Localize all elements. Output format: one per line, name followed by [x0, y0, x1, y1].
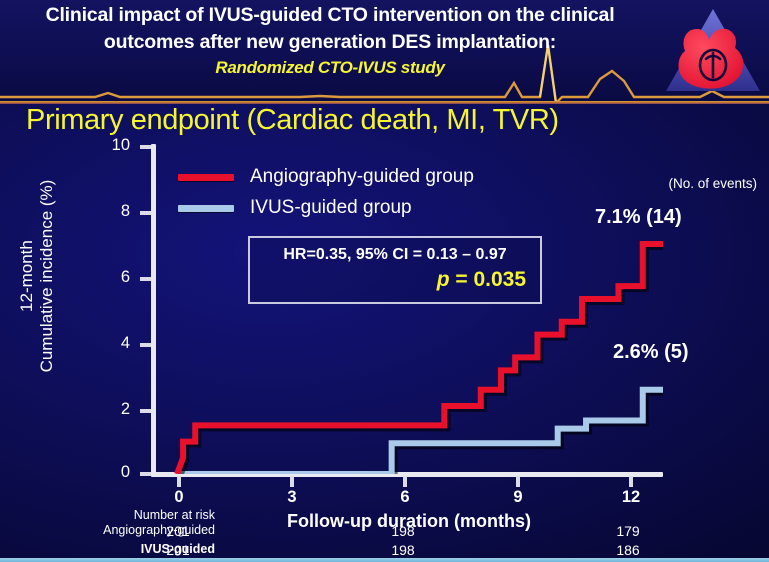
x-label-6: 6: [385, 488, 425, 507]
title-line-3-study: Randomized CTO-IVUS study: [0, 58, 660, 78]
legend-label-angio: Angiography-guided group: [250, 166, 474, 188]
p-value-number: = 0.035: [450, 268, 526, 291]
legend-item-angio: Angiography-guided group: [178, 166, 474, 188]
legend-swatch-ivus: [178, 205, 234, 212]
x-tick-12: [629, 476, 633, 487]
chart-legend: Angiography-guided group IVUS-guided gro…: [178, 166, 474, 228]
risk-angio-m6: 198: [380, 523, 426, 539]
slide-root: Clinical impact of IVUS-guided CTO inter…: [0, 0, 769, 562]
y-tick-10: [140, 145, 151, 149]
section-heading: Primary endpoint (Cardiac death, MI, TVR…: [26, 104, 559, 137]
y-label-2: 2: [96, 400, 130, 419]
y-tick-0: [140, 472, 151, 476]
risk-angio-m12: 179: [605, 523, 651, 539]
risk-table-title: Number at risk: [65, 508, 215, 522]
risk-row-values-angio: 201 198 179: [155, 523, 665, 538]
events-caption: (No. of events): [668, 176, 757, 191]
p-symbol: p: [437, 268, 450, 291]
series-ivus-guided: [177, 390, 663, 474]
y-tick-4: [140, 343, 151, 347]
statistics-box: HR=0.35, 95% CI = 0.13 – 0.97 p = 0.035: [248, 236, 542, 304]
y-label-8: 8: [96, 202, 130, 221]
x-tick-3: [290, 476, 294, 487]
y-axis-title: 12-monthCumulative incidence (%): [17, 151, 57, 401]
x-label-0: 0: [159, 488, 199, 507]
x-tick-9: [516, 476, 520, 487]
risk-angio-m0: 201: [155, 523, 201, 539]
risk-ivus-m0: 201: [155, 542, 201, 558]
legend-label-ivus: IVUS-guided group: [250, 197, 412, 219]
ivus-endpoint-label: 2.6% (5): [613, 341, 689, 364]
slide-header: Clinical impact of IVUS-guided CTO inter…: [0, 0, 769, 103]
p-value-text: p = 0.035: [264, 268, 526, 292]
y-tick-6: [140, 277, 151, 281]
x-tick-6: [403, 476, 407, 487]
angio-endpoint-label: 7.1% (14): [595, 206, 682, 229]
risk-ivus-m6: 198: [380, 542, 426, 558]
legend-item-ivus: IVUS-guided group: [178, 197, 474, 219]
bottom-accent-bar: [0, 558, 769, 562]
y-label-0: 0: [96, 463, 130, 482]
risk-row-values-ivus: 201 198 186: [155, 542, 665, 557]
x-label-12: 12: [611, 488, 651, 507]
legend-swatch-angio: [178, 174, 234, 181]
y-label-6: 6: [96, 268, 130, 287]
heart-logo: [661, 3, 765, 99]
y-label-10: 10: [96, 136, 130, 155]
risk-ivus-m12: 186: [605, 542, 651, 558]
number-at-risk-table: Number at risk Angiography-guided 201 19…: [0, 508, 769, 562]
title-line-2: outcomes after new generation DES implan…: [0, 31, 660, 54]
x-label-3: 3: [272, 488, 312, 507]
hazard-ratio-text: HR=0.35, 95% CI = 0.13 – 0.97: [264, 246, 526, 264]
kaplan-meier-chart: 10 8 6 4 2 0 0 3 6 9 12 12-monthCumulati…: [0, 136, 769, 508]
y-label-4: 4: [96, 334, 130, 353]
x-tick-0: [177, 476, 181, 487]
y-tick-2: [140, 409, 151, 413]
x-label-9: 9: [498, 488, 538, 507]
y-tick-8: [140, 211, 151, 215]
title-line-1: Clinical impact of IVUS-guided CTO inter…: [0, 4, 660, 27]
